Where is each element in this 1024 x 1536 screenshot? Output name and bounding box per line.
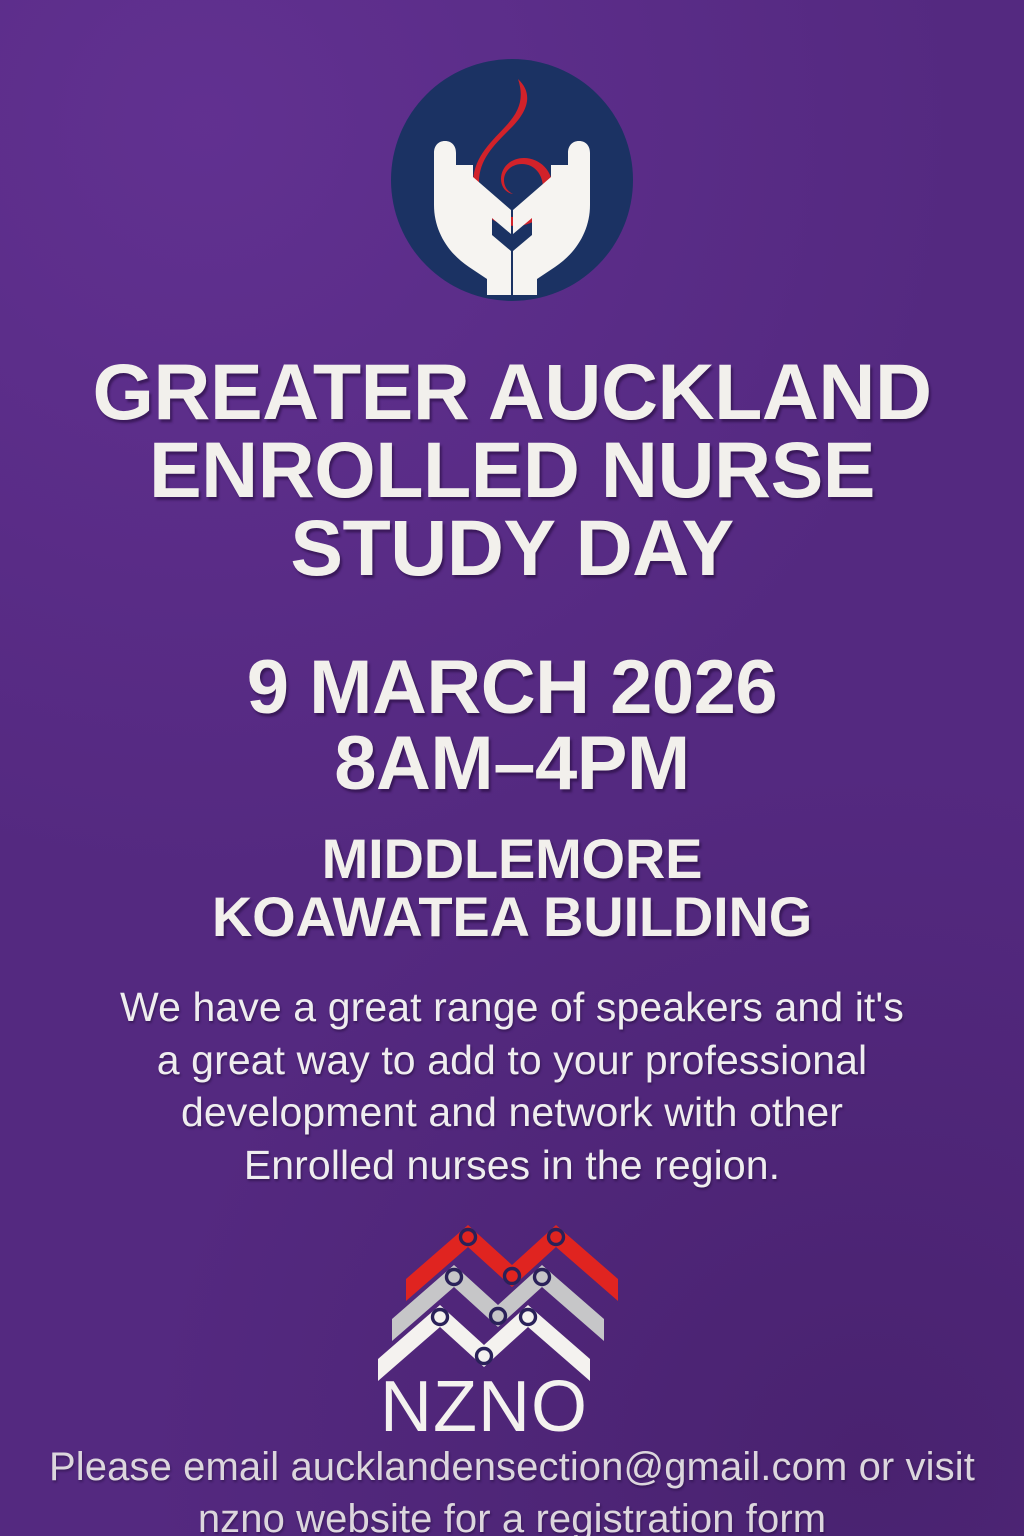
description-line-4: Enrolled nurses in the region. (102, 1139, 922, 1191)
headline-line-3: STUDY DAY (92, 509, 931, 587)
description-line-3: development and network with other (102, 1086, 922, 1138)
page-title: GREATER AUCKLAND ENROLLED NURSE STUDY DA… (62, 353, 961, 588)
headline-line-2: ENROLLED NURSE (92, 431, 931, 509)
event-description: We have a great range of speakers and it… (102, 981, 922, 1191)
event-venue: MIDDLEMORE KOAWATEA BUILDING (212, 830, 812, 948)
footer-line-1: Please email aucklandensection@gmail.com… (32, 1441, 992, 1493)
footer-line-2: nzno website for a registration form (32, 1493, 992, 1536)
event-date-time: 9 MARCH 2026 8AM–4PM (247, 650, 777, 802)
venue-building: KOAWATEA BUILDING (212, 888, 812, 947)
logo-circle-background (391, 59, 633, 301)
venue-site: MIDDLEMORE (212, 830, 812, 889)
event-date: 9 MARCH 2026 (247, 650, 777, 726)
nzno-wordmark: NZNO (380, 1367, 588, 1435)
description-line-1: We have a great range of speakers and it… (102, 981, 922, 1033)
headline-line-1: GREATER AUCKLAND (92, 353, 931, 431)
nzno-chevron-logo: NZNO (362, 1217, 662, 1435)
event-poster: GREATER AUCKLAND ENROLLED NURSE STUDY DA… (0, 0, 1024, 1536)
contact-footer: Please email aucklandensection@gmail.com… (32, 1441, 992, 1536)
event-time: 8AM–4PM (247, 726, 777, 802)
description-line-2: a great way to add to your professional (102, 1034, 922, 1086)
nzno-roundel-logo (387, 55, 637, 305)
